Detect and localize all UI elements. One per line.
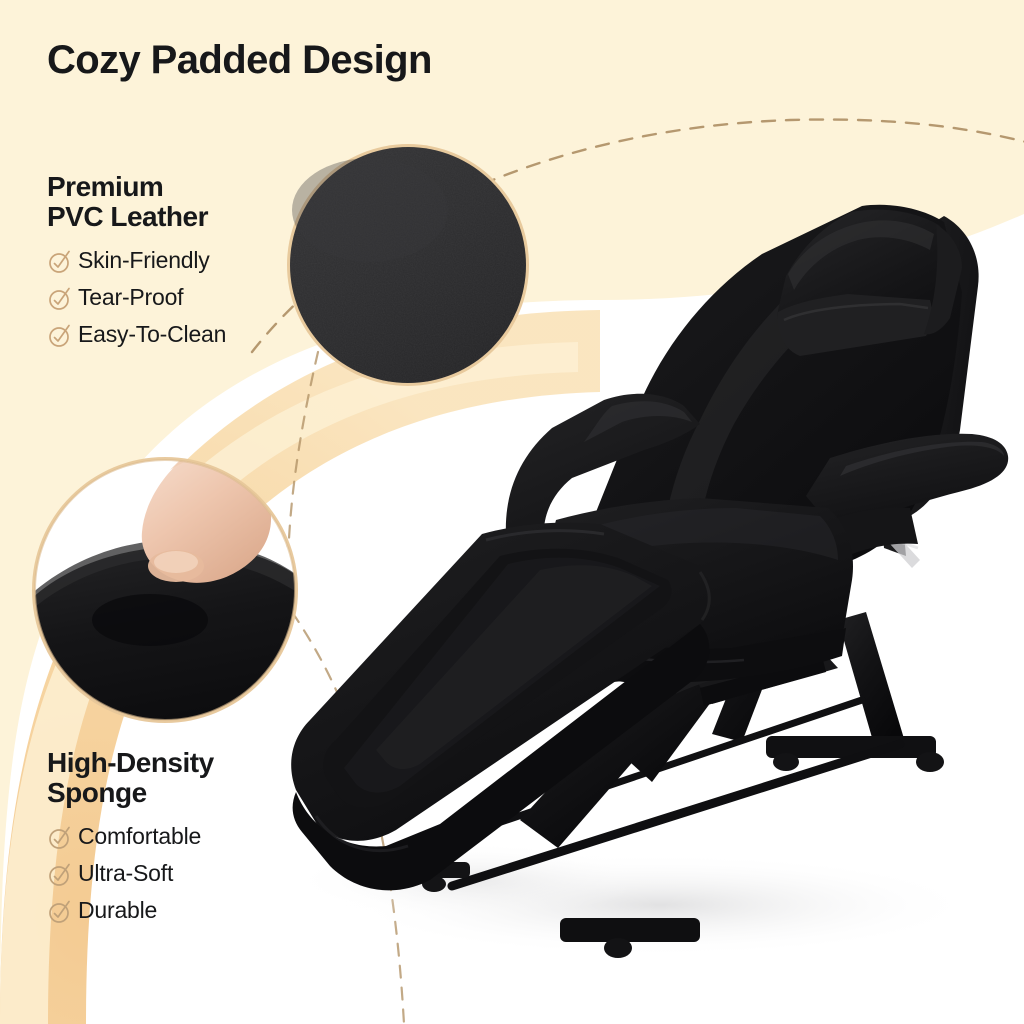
list-item: Easy-To-Clean <box>47 317 317 352</box>
product-infographic: Cozy Padded Design Premium PVC Leather S… <box>0 0 1024 1024</box>
list-item: Durable <box>47 893 317 928</box>
check-circle-icon <box>47 248 73 274</box>
list-item: Comfortable <box>47 819 317 854</box>
check-circle-icon <box>47 898 73 924</box>
check-circle-icon <box>47 285 73 311</box>
list-item-label: Durable <box>78 897 157 924</box>
foot-rail-left <box>560 918 700 942</box>
list-item: Skin-Friendly <box>47 243 317 278</box>
list-item: Ultra-Soft <box>47 856 317 891</box>
feature-block-high-density-sponge: High-Density Sponge Comfortable Ultra-So… <box>47 748 317 930</box>
legrest-cushion <box>291 522 712 890</box>
list-item-label: Comfortable <box>78 823 201 850</box>
check-circle-icon <box>47 861 73 887</box>
list-item-label: Ultra-Soft <box>78 860 173 887</box>
foot-cap <box>916 752 944 772</box>
check-circle-icon <box>47 824 73 850</box>
feature-heading: High-Density Sponge <box>47 748 317 807</box>
list-item-label: Skin-Friendly <box>78 247 210 274</box>
feature-heading: Premium PVC Leather <box>47 172 317 231</box>
feature-block-premium-pvc-leather: Premium PVC Leather Skin-Friendly Tear-P… <box>47 172 317 354</box>
list-item-label: Easy-To-Clean <box>78 321 226 348</box>
bullet-list: Comfortable Ultra-Soft Durable <box>47 819 317 928</box>
check-circle-icon <box>47 322 73 348</box>
bullet-list: Skin-Friendly Tear-Proof Easy-To-Clean <box>47 243 317 352</box>
list-item-label: Tear-Proof <box>78 284 183 311</box>
page-title: Cozy Padded Design <box>47 38 432 83</box>
list-item: Tear-Proof <box>47 280 317 315</box>
